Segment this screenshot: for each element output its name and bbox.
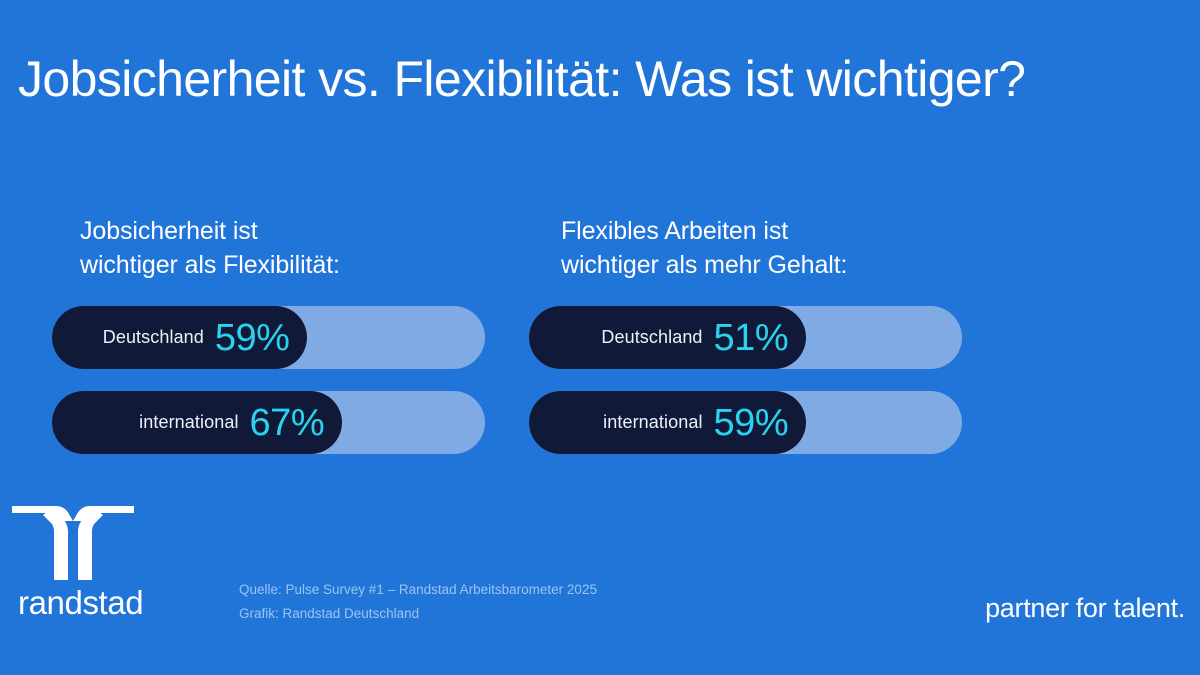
page-title: Jobsicherheit vs. Flexibilität: Was ist …: [18, 49, 1025, 109]
column-job-security: Jobsicherheit ist wichtiger als Flexibil…: [80, 214, 520, 282]
bar-row: Deutschland 59%: [52, 306, 485, 369]
bar-row: international 67%: [52, 391, 485, 454]
bar-value: 51%: [714, 319, 789, 357]
bar-label: Deutschland: [601, 327, 702, 348]
source-credits: Quelle: Pulse Survey #1 – Randstad Arbei…: [239, 578, 597, 626]
bar-label: international: [603, 412, 702, 433]
bar-row: international 59%: [529, 391, 962, 454]
bar-row: Deutschland 51%: [529, 306, 962, 369]
infographic-slide: Jobsicherheit vs. Flexibilität: Was ist …: [0, 0, 1200, 675]
column-heading: Flexibles Arbeiten ist wichtiger als meh…: [561, 214, 1001, 282]
column-heading-line2: wichtiger als Flexibilität:: [80, 251, 340, 279]
bar-label: Deutschland: [103, 327, 204, 348]
randstad-wordmark: randstad: [18, 586, 143, 620]
column-heading-line2: wichtiger als mehr Gehalt:: [561, 251, 847, 279]
column-heading-line1: Jobsicherheit ist: [80, 217, 258, 245]
bar-label: international: [139, 412, 238, 433]
bar-value: 59%: [714, 404, 789, 442]
bar-value: 67%: [250, 404, 325, 442]
bar-fill: Deutschland 59%: [52, 306, 307, 369]
graphic-credit-line: Grafik: Randstad Deutschland: [239, 602, 597, 626]
column-heading: Jobsicherheit ist wichtiger als Flexibil…: [80, 214, 520, 282]
randstad-logo: randstad: [12, 506, 143, 620]
randstad-logomark-icon: [12, 506, 134, 580]
column-flexible-work: Flexibles Arbeiten ist wichtiger als meh…: [561, 214, 1001, 282]
bar-fill: Deutschland 51%: [529, 306, 806, 369]
brand-tagline: partner for talent.: [985, 592, 1185, 624]
column-heading-line1: Flexibles Arbeiten ist: [561, 217, 788, 245]
source-line: Quelle: Pulse Survey #1 – Randstad Arbei…: [239, 578, 597, 602]
bar-fill: international 59%: [529, 391, 806, 454]
bar-fill: international 67%: [52, 391, 342, 454]
bar-value: 59%: [215, 319, 290, 357]
